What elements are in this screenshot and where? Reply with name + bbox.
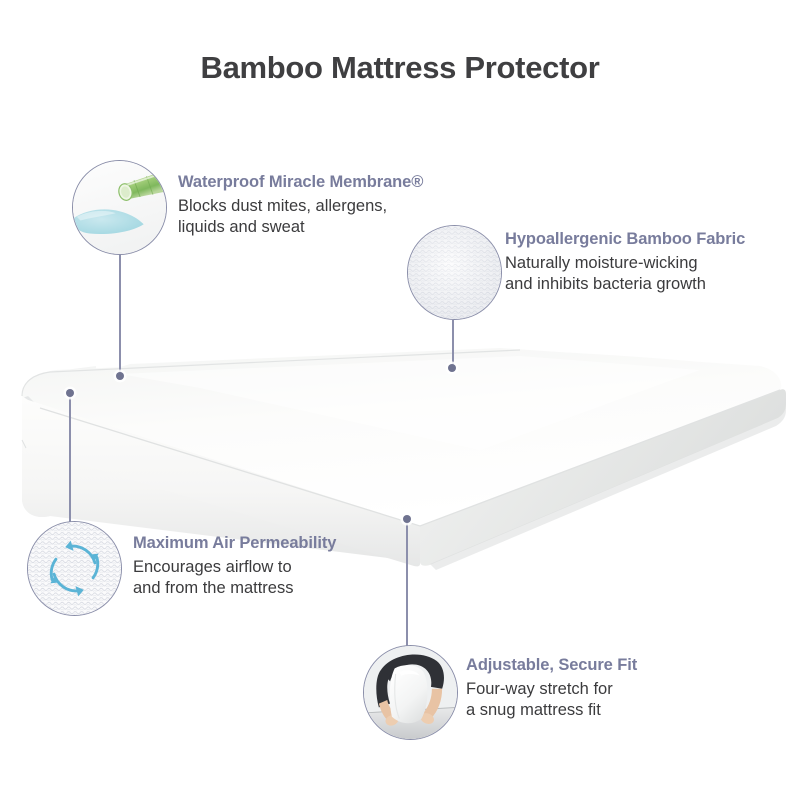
callout-heading-bamboo-fabric: Hypoallergenic Bamboo Fabric — [505, 229, 745, 250]
callout-bubble-waterproof-membrane[interactable] — [72, 160, 167, 255]
leader-dot-air-permeability — [66, 389, 74, 397]
leader-dot-bamboo-fabric — [448, 364, 456, 372]
callout-text-waterproof-membrane: Waterproof Miracle Membrane® Blocks dust… — [178, 172, 423, 238]
callout-bubble-air-permeability[interactable] — [27, 521, 122, 616]
callout-body-secure-fit: Four-way stretch for a snug mattress fit — [466, 679, 637, 721]
callout-body-waterproof-membrane: Blocks dust mites, allergens, liquids an… — [178, 196, 423, 238]
leader-dot-waterproof-membrane — [116, 372, 124, 380]
callout-body-bamboo-fabric: Naturally moisture-wicking and inhibits … — [505, 253, 745, 295]
callout-heading-air-permeability: Maximum Air Permeability — [133, 533, 336, 554]
leader-line-secure-fit — [406, 520, 408, 647]
leader-line-bamboo-fabric — [452, 320, 454, 368]
callout-bubble-bamboo-fabric[interactable] — [407, 225, 502, 320]
callout-heading-secure-fit: Adjustable, Secure Fit — [466, 655, 637, 676]
person-fitting-protector-icon — [364, 646, 457, 739]
callout-heading-waterproof-membrane: Waterproof Miracle Membrane® — [178, 172, 423, 193]
leader-line-waterproof-membrane — [119, 255, 121, 376]
fabric-weave-texture-icon — [408, 226, 501, 319]
callout-body-air-permeability: Encourages airflow to and from the mattr… — [133, 557, 336, 599]
callout-text-air-permeability: Maximum Air Permeability Encourages airf… — [133, 533, 336, 599]
leader-dot-secure-fit — [403, 515, 411, 523]
callout-text-secure-fit: Adjustable, Secure Fit Four-way stretch … — [466, 655, 637, 721]
airflow-circulation-arrows-icon — [28, 522, 121, 615]
page-title: Bamboo Mattress Protector — [0, 50, 800, 86]
callout-bubble-secure-fit[interactable] — [363, 645, 458, 740]
leader-line-air-permeability — [69, 392, 71, 523]
infographic-root: Bamboo Mattress Protector — [0, 0, 800, 800]
bamboo-stalk-and-liquid-icon — [73, 161, 166, 254]
callout-text-bamboo-fabric: Hypoallergenic Bamboo Fabric Naturally m… — [505, 229, 745, 295]
